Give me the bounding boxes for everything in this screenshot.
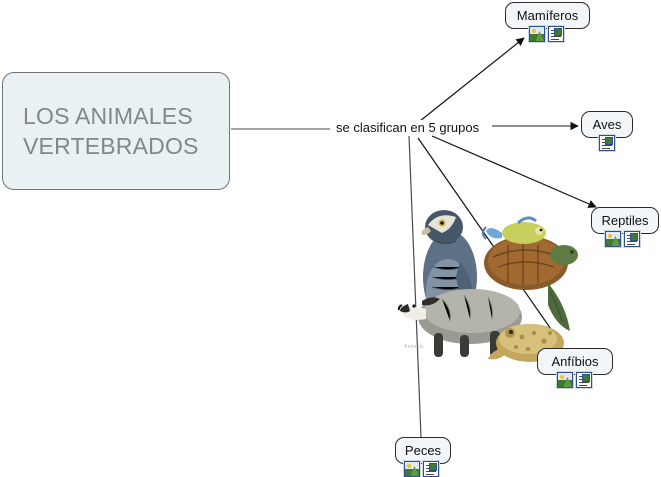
concept-node-peces[interactable]: Peces bbox=[395, 437, 451, 464]
concept-node-mamiferos-label: Mamíferos bbox=[517, 8, 578, 23]
document-icon[interactable] bbox=[423, 461, 439, 477]
root-concept-node[interactable]: LOS ANIMALES VERTEBRADOS bbox=[2, 72, 230, 190]
root-concept-label: LOS ANIMALES VERTEBRADOS bbox=[3, 101, 199, 161]
resource-icons-reptiles bbox=[605, 231, 640, 247]
vertebrate-animals-collage bbox=[398, 205, 588, 365]
concept-node-anfibios-label: Anfíbios bbox=[552, 354, 599, 369]
concept-map-canvas: LOS ANIMALES VERTEBRADOS se clasifican e… bbox=[0, 0, 661, 477]
concept-node-mamiferos[interactable]: Mamíferos bbox=[505, 2, 590, 29]
illustration-credit: Animals bbox=[404, 344, 424, 350]
concept-node-reptiles-label: Reptiles bbox=[602, 213, 649, 228]
picture-icon[interactable] bbox=[529, 26, 545, 42]
concept-node-peces-label: Peces bbox=[405, 443, 441, 458]
wire-phrase-to-reptiles bbox=[432, 136, 596, 207]
picture-icon[interactable] bbox=[557, 372, 573, 388]
linking-phrase[interactable]: se clasifican en 5 grupos bbox=[333, 120, 482, 135]
wire-phrase-to-mamiferos bbox=[420, 38, 524, 121]
resource-icons-peces bbox=[404, 461, 439, 477]
concept-node-aves-label: Aves bbox=[593, 117, 622, 132]
picture-icon[interactable] bbox=[605, 231, 621, 247]
picture-icon[interactable] bbox=[404, 461, 420, 477]
resource-icons-anfibios bbox=[557, 372, 592, 388]
fish-illustration bbox=[483, 218, 546, 244]
document-icon[interactable] bbox=[624, 231, 640, 247]
resource-icons-mamiferos bbox=[529, 26, 564, 42]
concept-node-anfibios[interactable]: Anfíbios bbox=[537, 348, 613, 375]
document-icon[interactable] bbox=[576, 372, 592, 388]
document-icon[interactable] bbox=[548, 26, 564, 42]
document-icon[interactable] bbox=[599, 135, 615, 151]
concept-node-aves[interactable]: Aves bbox=[581, 111, 633, 138]
concept-node-reptiles[interactable]: Reptiles bbox=[591, 207, 659, 234]
resource-icons-aves bbox=[599, 135, 615, 151]
